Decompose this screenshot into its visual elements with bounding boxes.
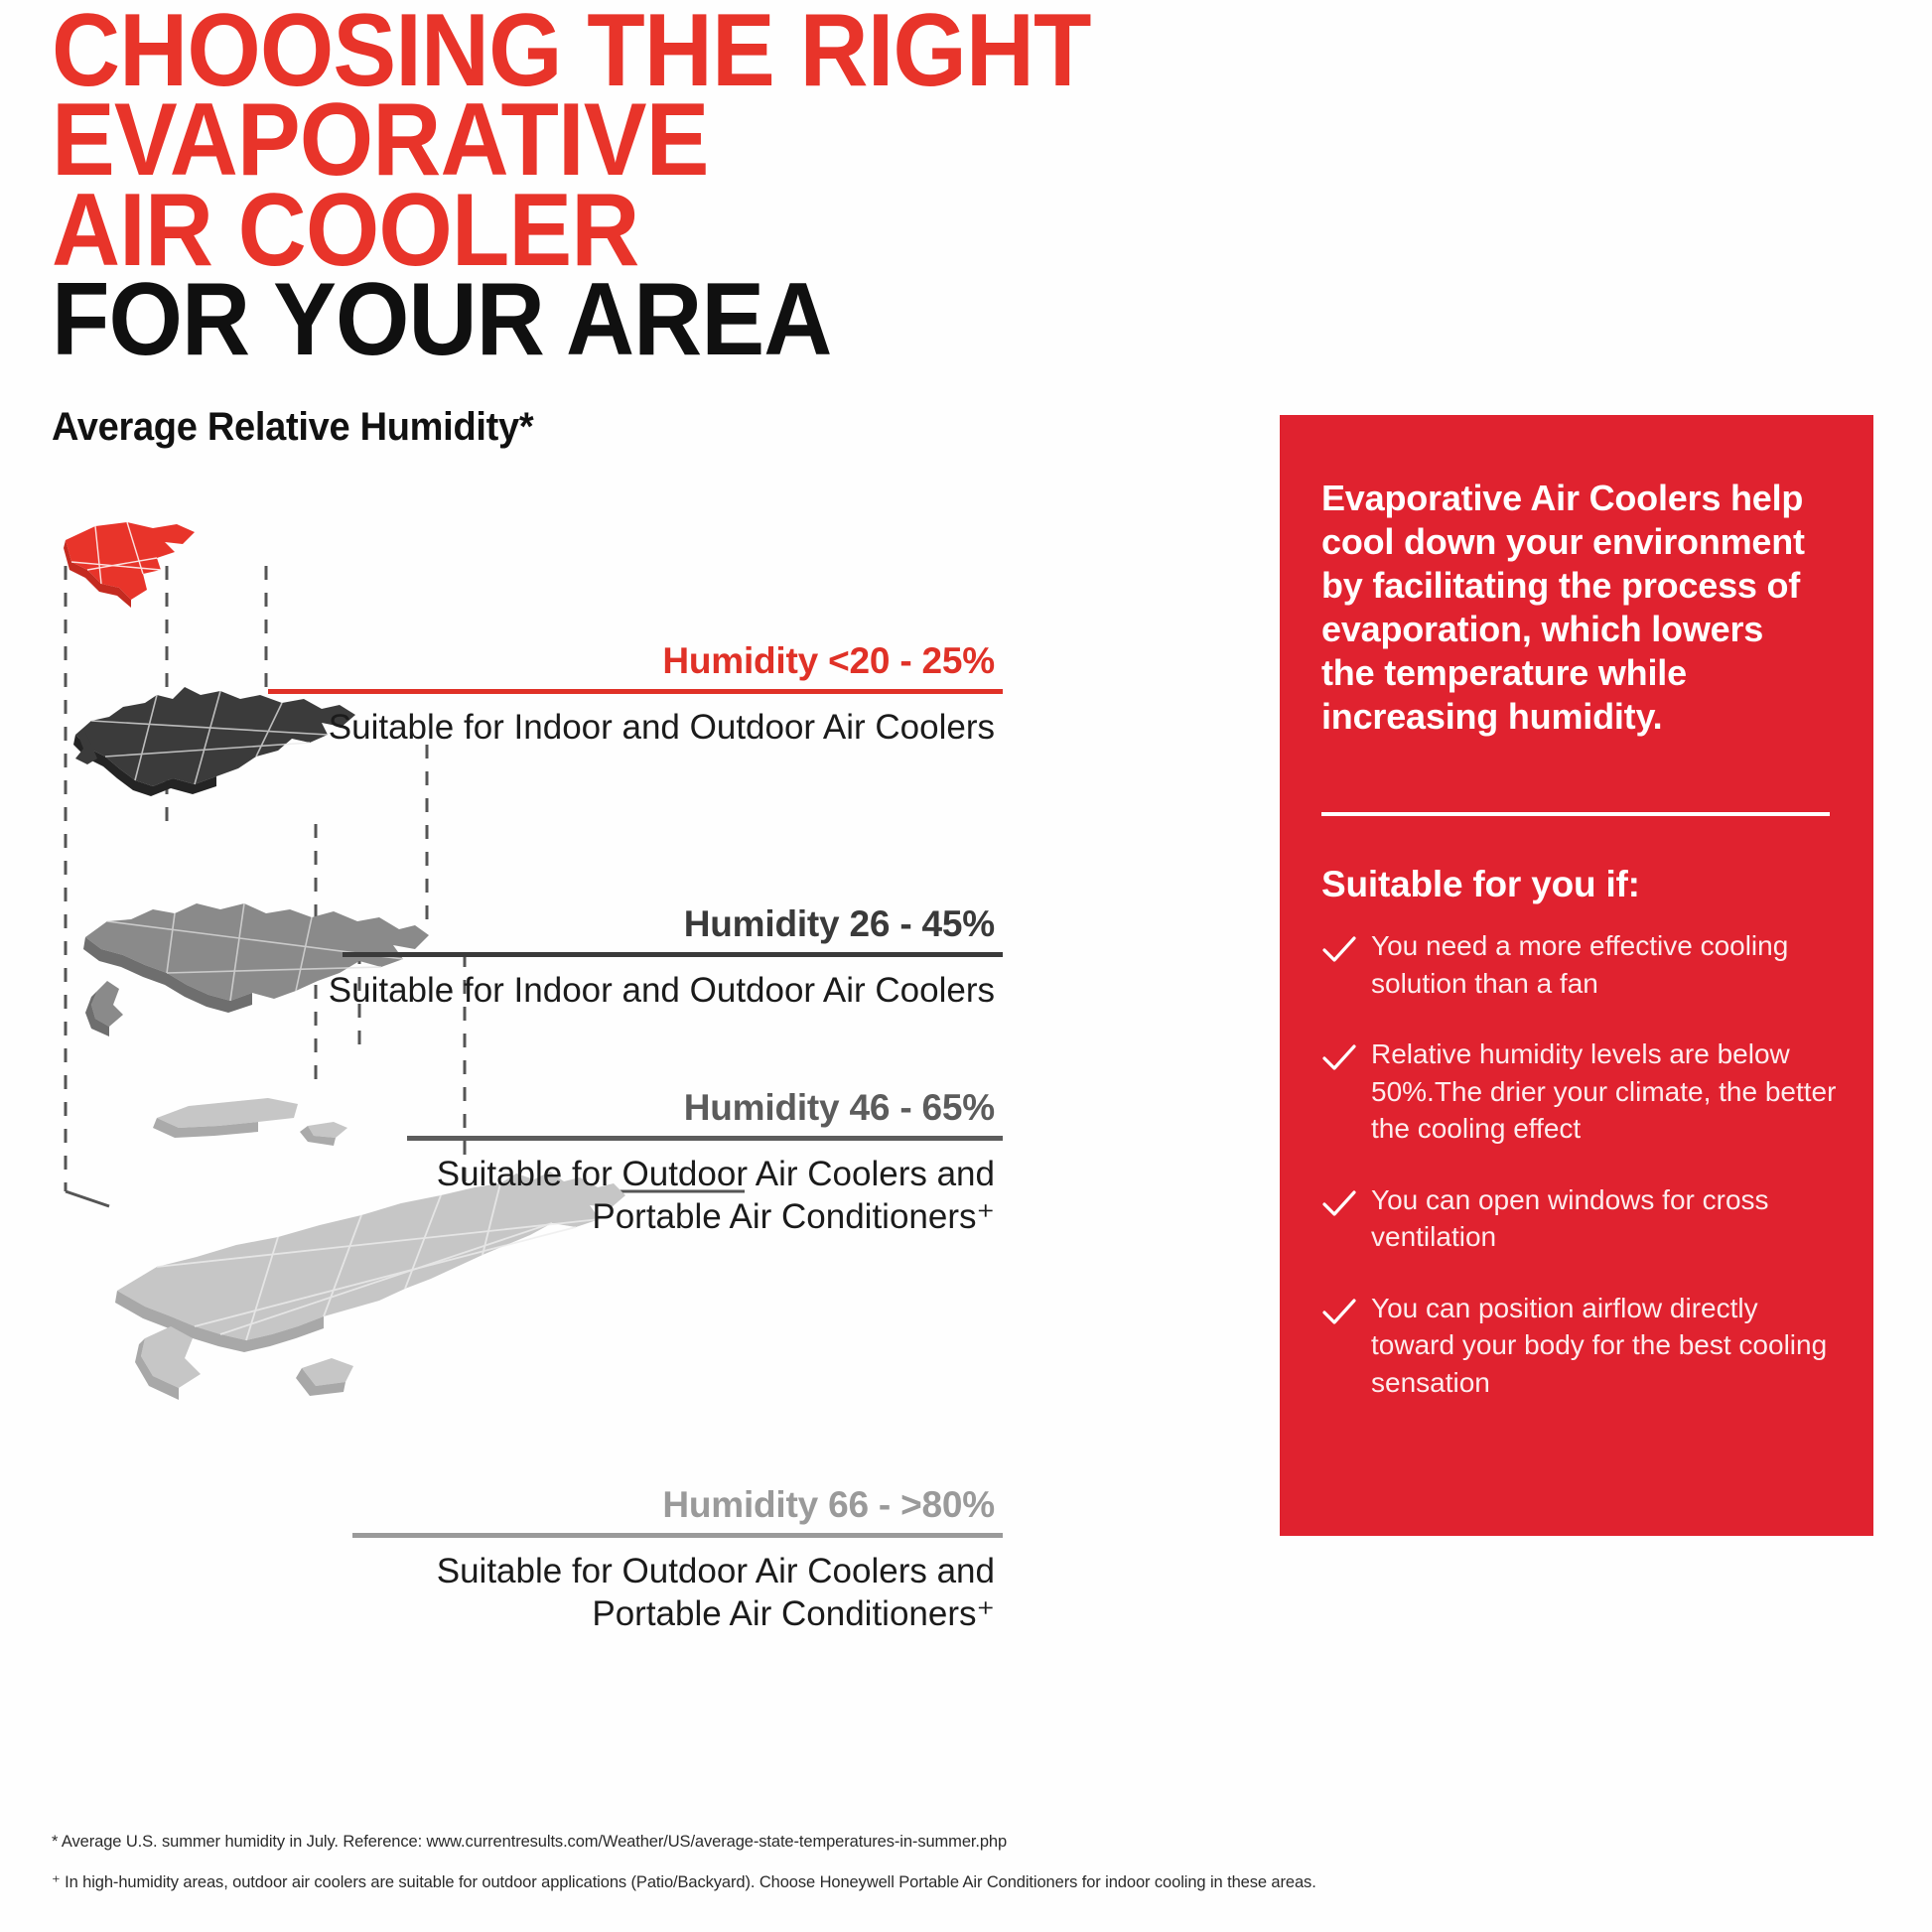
footnote-2: ⁺ In high-humidity areas, outdoor air co… [52,1872,1496,1892]
footnotes: * Average U.S. summer humidity in July. … [52,1832,1541,1914]
list-item: You need a more effective cooling soluti… [1321,927,1838,1002]
humidity-desc-4-line1: Suitable for Outdoor Air Coolers and [0,1550,1003,1592]
humidity-row-4: Humidity 66 - >80% Suitable for Outdoor … [0,1484,1003,1636]
sidebar-intro-text: Evaporative Air Coolers help cool down y… [1321,477,1823,738]
humidity-rule-2 [343,952,1003,957]
sidebar-heading: Suitable for you if: [1321,864,1640,905]
humidity-desc-1: Suitable for Indoor and Outdoor Air Cool… [0,706,1003,749]
footnote-1: * Average U.S. summer humidity in July. … [52,1832,1496,1852]
humidity-desc-3-line2: Portable Air Conditioners⁺ [0,1195,1003,1238]
humidity-row-2: Humidity 26 - 45% Suitable for Indoor an… [0,903,1003,1012]
humidity-desc-3-line1: Suitable for Outdoor Air Coolers and [0,1153,1003,1195]
humidity-label-4: Humidity 66 - >80% [0,1484,1003,1526]
sidebar-benefit-list: You need a more effective cooling soluti… [1321,927,1838,1435]
humidity-rule-1 [268,689,1003,694]
humidity-label-3: Humidity 46 - 65% [0,1087,1003,1129]
humidity-row-1: Humidity <20 - 25% Suitable for Indoor a… [0,640,1003,749]
humidity-rule-4 [352,1533,1003,1538]
check-icon [1321,933,1357,967]
section-subhead: Average Relative Humidity* [52,405,533,450]
sidebar-item-label: You can position airflow directly toward… [1371,1290,1838,1402]
humidity-label-1: Humidity <20 - 25% [0,640,1003,682]
list-item: You can open windows for cross ventilati… [1321,1181,1838,1256]
info-sidebar: Evaporative Air Coolers help cool down y… [1280,415,1873,1536]
map-layer-humidity-1 [58,518,216,627]
humidity-desc-4-line2: Portable Air Conditioners⁺ [0,1592,1003,1635]
page-title: CHOOSING THE RIGHT EVAPORATIVE AIR COOLE… [52,6,1243,365]
humidity-row-3: Humidity 46 - 65% Suitable for Outdoor A… [0,1087,1003,1239]
list-item: Relative humidity levels are below 50%.T… [1321,1035,1838,1148]
humidity-rule-3 [407,1136,1003,1141]
check-icon [1321,1187,1357,1221]
sidebar-item-label: You can open windows for cross ventilati… [1371,1181,1838,1256]
title-line-4: FOR YOUR AREA [52,275,1148,364]
sidebar-item-label: Relative humidity levels are below 50%.T… [1371,1035,1838,1148]
sidebar-divider [1321,812,1830,816]
humidity-label-2: Humidity 26 - 45% [0,903,1003,945]
infographic-page: CHOOSING THE RIGHT EVAPORATIVE AIR COOLE… [0,0,1932,1932]
humidity-desc-2: Suitable for Indoor and Outdoor Air Cool… [0,969,1003,1012]
check-icon [1321,1296,1357,1329]
list-item: You can position airflow directly toward… [1321,1290,1838,1402]
check-icon [1321,1041,1357,1075]
sidebar-item-label: You need a more effective cooling soluti… [1371,927,1838,1002]
